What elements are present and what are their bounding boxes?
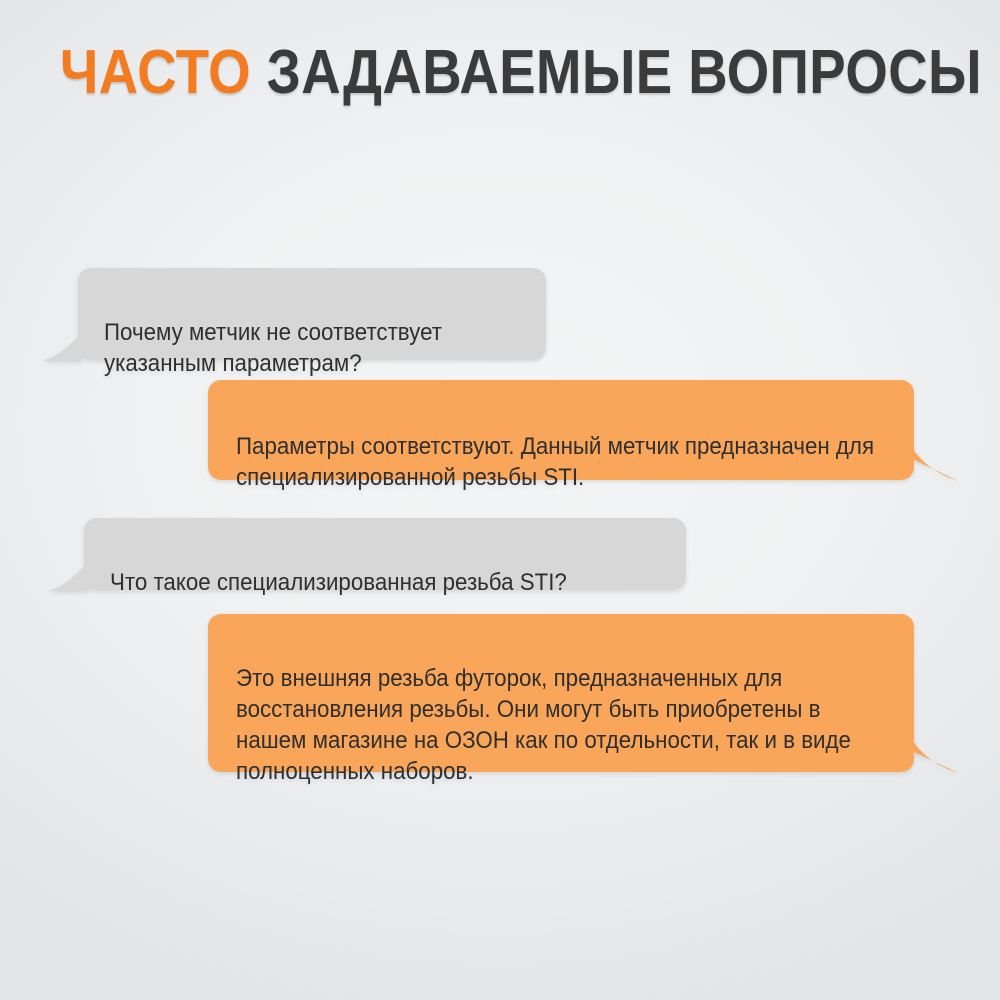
page-title-rest: ЗАДАВАЕМЫЕ ВОПРОСЫ [251, 38, 982, 107]
faq-poster: ЧАСТО ЗАДАВАЕМЫЕ ВОПРОСЫ Почему метчик н… [0, 0, 1000, 1000]
bubble-tail-right-icon [908, 439, 958, 481]
page-title: ЧАСТО ЗАДАВАЕМЫЕ ВОПРОСЫ [60, 38, 940, 108]
answer-bubble-2-text: Это внешняя резьба футорок, предназначен… [236, 663, 890, 787]
answer-bubble-1: Параметры соответствуют. Данный метчик п… [208, 380, 914, 480]
page-title-accent: ЧАСТО [60, 38, 251, 107]
question-bubble-2: Что такое специализированная резьба STI? [84, 518, 686, 590]
bubble-tail-left-icon [42, 331, 82, 361]
question-bubble-2-text: Что такое специализированная резьба STI? [110, 567, 664, 598]
question-bubble-1: Почему метчик не соответствует указанным… [78, 268, 546, 360]
bubble-tail-left-icon [48, 561, 88, 591]
answer-bubble-1-text: Параметры соответствуют. Данный метчик п… [236, 431, 890, 493]
answer-bubble-2: Это внешняя резьба футорок, предназначен… [208, 614, 914, 772]
bubble-tail-right-icon [908, 731, 958, 773]
question-bubble-1-text: Почему метчик не соответствует указанным… [104, 317, 524, 379]
